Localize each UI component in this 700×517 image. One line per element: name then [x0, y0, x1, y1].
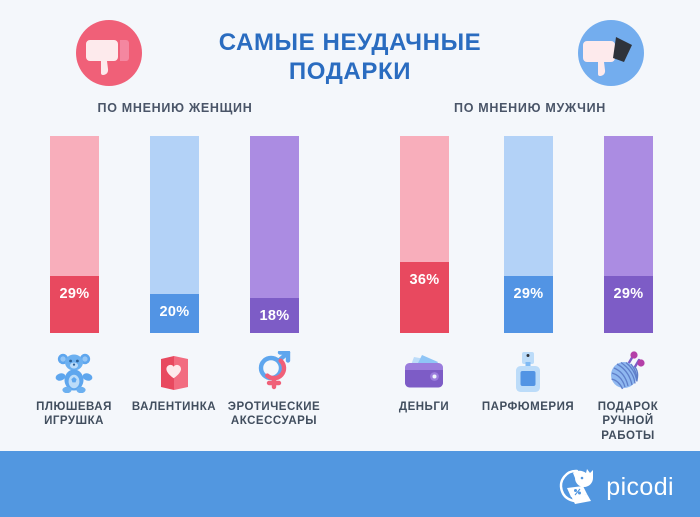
category-perfume: ПАРФЮМЕРИЯ	[478, 350, 578, 414]
picodi-price-tag-logo	[555, 467, 599, 507]
thumbs-down-icon-blue	[578, 20, 644, 86]
wallet-money-icon	[374, 350, 474, 394]
bar-value-label: 29%	[50, 286, 99, 302]
picodi-logo[interactable]: picodi	[555, 467, 674, 507]
category-label: ВАЛЕНТИНКА	[124, 400, 224, 414]
gender-symbols-icon	[224, 350, 324, 394]
bar-women-erotic: 18%	[250, 136, 299, 333]
bar-fill	[504, 276, 553, 333]
footer-band: picodi	[0, 451, 700, 517]
bar-value-label: 29%	[604, 286, 653, 302]
category-label: ДЕНЬГИ	[374, 400, 474, 414]
bar-fill	[50, 276, 99, 333]
yarn-ball-icon	[578, 350, 678, 394]
group-label-men: ПО МНЕНИЮ МУЖЧИН	[400, 101, 660, 115]
category-valentine-card: ВАЛЕНТИНКА	[124, 350, 224, 414]
bar-men-perfume: 29%	[504, 136, 553, 333]
bar-value-label: 18%	[250, 308, 299, 324]
category-handmade-gift: ПОДАРОК РУЧНОЙ РАБОТЫ	[578, 350, 678, 443]
bar-men-handmade: 29%	[604, 136, 653, 333]
category-erotic-accessories: ЭРОТИЧЕСКИЕ АКСЕССУАРЫ	[224, 350, 324, 429]
bar-value-label: 29%	[504, 286, 553, 302]
bar-fill	[604, 276, 653, 333]
thumbs-down-icon-pink	[76, 20, 142, 86]
category-label: ПЛЮШЕВАЯ ИГРУШКА	[24, 400, 124, 429]
title-line-2: ПОДАРКИ	[289, 58, 411, 85]
bar-women-teddy: 29%	[50, 136, 99, 333]
page-title: САМЫЕ НЕУДАЧНЫЕ ПОДАРКИ	[160, 28, 540, 87]
valentine-card-icon	[124, 350, 224, 394]
infographic-canvas: САМЫЕ НЕУДАЧНЫЕ ПОДАРКИ ПО МНЕНИЮ ЖЕНЩИН…	[0, 0, 700, 517]
group-label-women: ПО МНЕНИЮ ЖЕНЩИН	[45, 101, 305, 115]
category-label: ЭРОТИЧЕСКИЕ АКСЕССУАРЫ	[224, 400, 324, 429]
title-line-1: САМЫЕ НЕУДАЧНЫЕ	[219, 29, 482, 56]
bar-value-label: 20%	[150, 304, 199, 320]
picodi-wordmark: picodi	[606, 473, 674, 502]
category-label: ПОДАРОК РУЧНОЙ РАБОТЫ	[578, 400, 678, 443]
category-teddy-bear: ПЛЮШЕВАЯ ИГРУШКА	[24, 350, 124, 429]
bar-men-money: 36%	[400, 136, 449, 333]
bar-women-valentine: 20%	[150, 136, 199, 333]
bar-value-label: 36%	[400, 272, 449, 288]
category-money: ДЕНЬГИ	[374, 350, 474, 414]
perfume-bottle-icon	[478, 350, 578, 394]
category-label: ПАРФЮМЕРИЯ	[478, 400, 578, 414]
teddy-bear-icon	[24, 350, 124, 394]
